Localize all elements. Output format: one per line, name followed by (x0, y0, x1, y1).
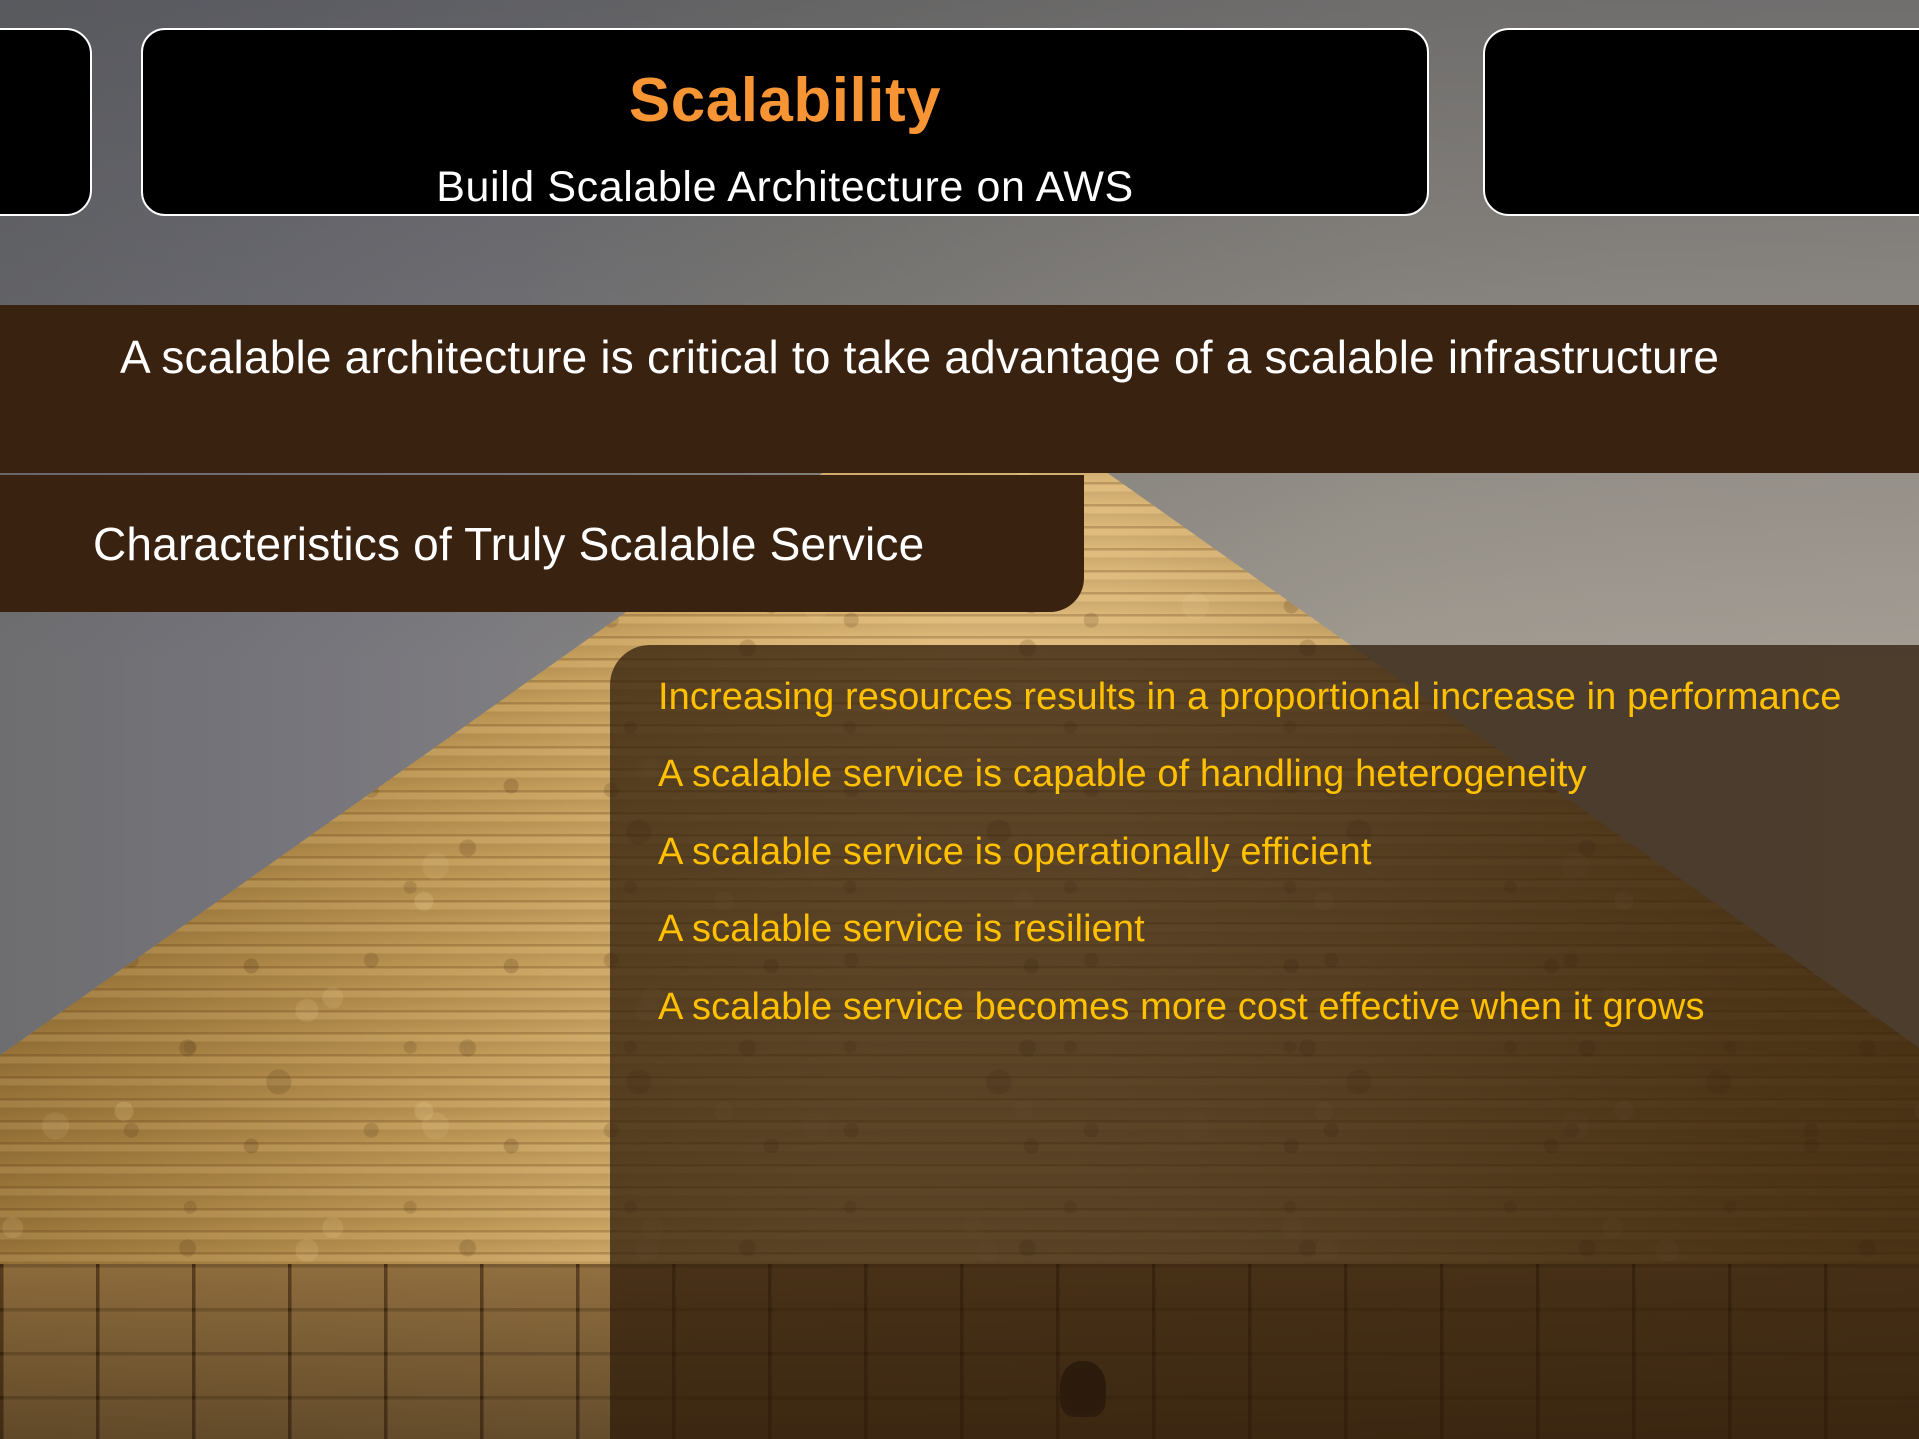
bullet-item: Increasing resources results in a propor… (658, 673, 1883, 722)
header-title-box: Scalability Build Scalable Architecture … (141, 28, 1429, 216)
statement-text: A scalable architecture is critical to t… (120, 331, 1719, 383)
presentation-slide: Scalability Build Scalable Architecture … (0, 0, 1919, 1439)
slide-subtitle: Build Scalable Architecture on AWS (143, 166, 1427, 209)
section-heading-bar: Characteristics of Truly Scalable Servic… (0, 475, 1084, 612)
section-heading-text: Characteristics of Truly Scalable Servic… (93, 517, 924, 571)
statement-bar: A scalable architecture is critical to t… (0, 305, 1919, 473)
slide-header: Scalability Build Scalable Architecture … (0, 0, 1919, 216)
bullet-list-panel: Increasing resources results in a propor… (610, 645, 1919, 1439)
bullet-item: A scalable service becomes more cost eff… (658, 983, 1883, 1032)
slide-title: Scalability (143, 70, 1427, 132)
bullet-item: A scalable service is resilient (658, 905, 1883, 954)
header-decorative-box-left (0, 28, 92, 216)
bullet-item: A scalable service is capable of handlin… (658, 750, 1883, 799)
header-decorative-box-right (1483, 28, 1919, 216)
bullet-item: A scalable service is operationally effi… (658, 828, 1883, 877)
